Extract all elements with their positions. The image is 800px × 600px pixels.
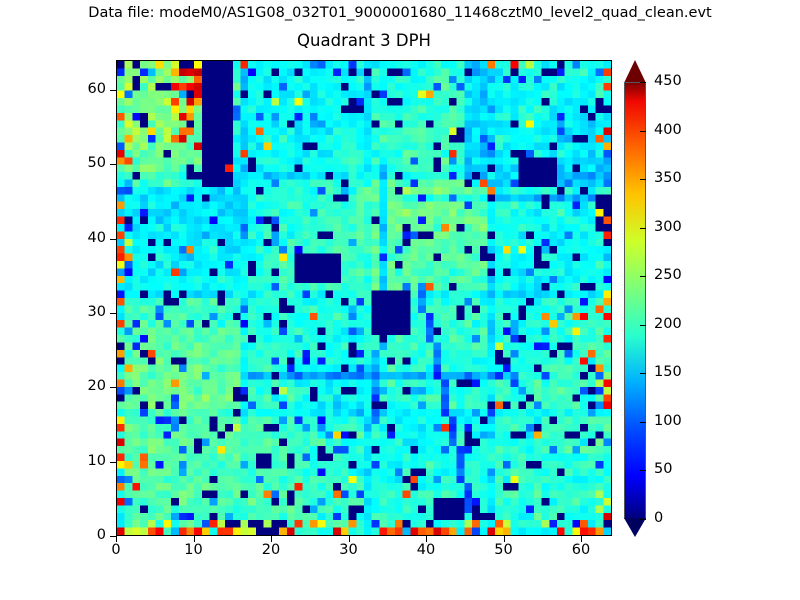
heatmap-image[interactable] (117, 61, 611, 535)
x-tick-mark (426, 536, 427, 542)
y-tick-label: 0 (58, 527, 106, 543)
x-tick-mark (194, 536, 195, 542)
colorbar-tick-mark (640, 470, 646, 471)
x-tick-label: 50 (474, 542, 534, 558)
colorbar-gradient (624, 82, 646, 519)
colorbar-tick-mark (640, 179, 646, 180)
y-tick-label: 50 (58, 155, 106, 171)
data-file-label: Data file: modeM0/AS1G08_032T01_90000016… (0, 5, 800, 21)
colorbar-tick-label: 100 (654, 413, 682, 429)
colorbar-tick-mark (640, 131, 646, 132)
colorbar-tick-mark (640, 373, 646, 374)
x-tick-label: 30 (319, 542, 379, 558)
x-tick-label: 60 (551, 542, 611, 558)
y-tick-mark (110, 536, 116, 537)
figure-canvas: Data file: modeM0/AS1G08_032T01_90000016… (0, 0, 800, 600)
x-tick-mark (116, 536, 117, 542)
colorbar-tick-label: 150 (654, 364, 682, 380)
x-tick-label: 20 (241, 542, 301, 558)
colorbar-tick-label: 50 (654, 461, 672, 477)
colorbar-extend-bottom-icon (624, 518, 646, 537)
x-tick-mark (271, 536, 272, 542)
x-tick-mark (581, 536, 582, 542)
colorbar-tick-label: 350 (654, 170, 682, 186)
y-tick-label: 30 (58, 304, 106, 320)
y-tick-label: 60 (58, 81, 106, 97)
colorbar-tick-label: 250 (654, 267, 682, 283)
y-tick-label: 20 (58, 378, 106, 394)
colorbar-tick-label: 0 (654, 510, 663, 526)
x-tick-label: 10 (164, 542, 224, 558)
heatmap-axes[interactable] (116, 60, 612, 536)
colorbar-tick-label: 450 (654, 73, 682, 89)
x-tick-mark (504, 536, 505, 542)
y-tick-label: 40 (58, 230, 106, 246)
x-tick-label: 40 (396, 542, 456, 558)
colorbar-tick-mark (640, 82, 646, 83)
colorbar-tick-mark (640, 422, 646, 423)
colorbar-tick-mark (640, 519, 646, 520)
x-tick-mark (349, 536, 350, 542)
colorbar-tick-label: 400 (654, 122, 682, 138)
x-tick-label: 0 (86, 542, 146, 558)
colorbar-tick-mark (640, 228, 646, 229)
colorbar[interactable]: 050100150200250300350400450 (624, 60, 648, 536)
colorbar-extend-top-icon (624, 60, 646, 83)
colorbar-tick-mark (640, 325, 646, 326)
y-tick-label: 10 (58, 453, 106, 469)
plot-title: Quadrant 3 DPH (116, 31, 612, 50)
colorbar-tick-label: 200 (654, 316, 682, 332)
colorbar-tick-label: 300 (654, 219, 682, 235)
colorbar-tick-mark (640, 276, 646, 277)
